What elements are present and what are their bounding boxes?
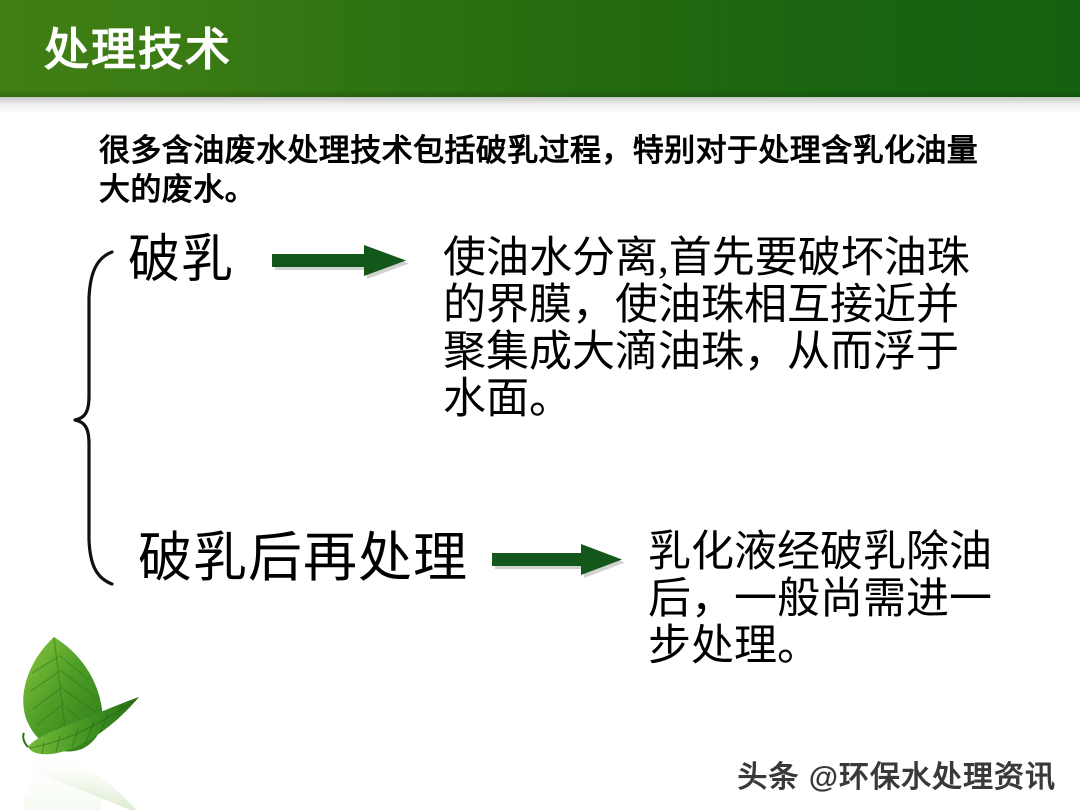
green-leaves-icon [2, 605, 242, 810]
row-body-post-treatment: 乳化液经破乳除油后，一般尚需进一步处理。 [648, 529, 998, 670]
row-body-decomposition: 使油水分离,首先要破坏油珠的界膜，使油珠相互接近并聚集成大滴油珠，从而浮于水面。 [443, 235, 973, 423]
watermark-text: 头条 @环保水处理资讯 [737, 752, 1056, 796]
right-arrow-icon [272, 245, 412, 287]
header-shadow [0, 97, 1080, 114]
left-curly-brace [72, 248, 118, 588]
intro-paragraph: 很多含油废水处理技术包括破乳过程，特别对于处理含乳化油量大的废水。 [99, 131, 979, 209]
page-title: 处理技术 [44, 22, 232, 78]
slide-canvas: 处理技术 很多含油废水处理技术包括破乳过程，特别对于处理含乳化油量大的废水。 破… [0, 0, 1080, 810]
right-arrow-icon [492, 544, 628, 586]
row-label-post-treatment: 破乳后再处理 [138, 528, 468, 588]
row-label-decomposition: 破乳 [128, 232, 234, 290]
